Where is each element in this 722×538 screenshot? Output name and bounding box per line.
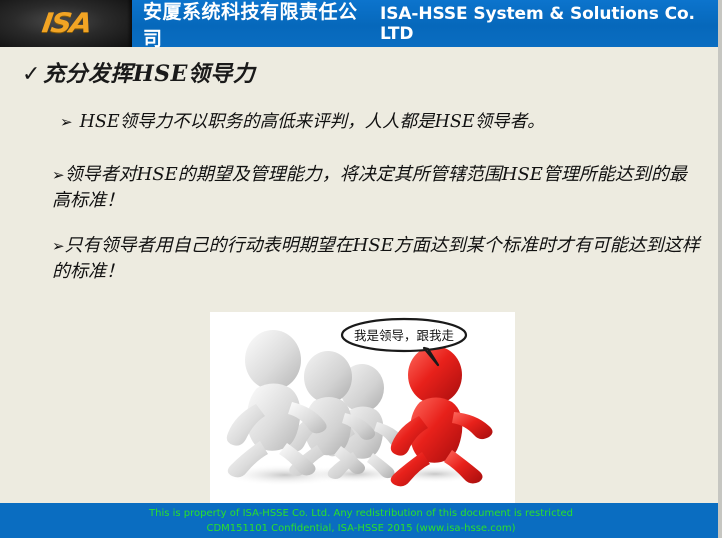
bullet-arrow-icon: ➢ (52, 237, 65, 255)
isa-logo: ISA (0, 0, 132, 47)
company-name-chinese: 安厦系统科技有限责任公司 (143, 0, 369, 51)
slide-title-text: 充分发挥HSE领导力 (43, 61, 255, 87)
bullet-arrow-icon: ➢ (60, 113, 73, 131)
bullet-item: ➢HSE领导力不以职务的高低来评判，人人都是HSE领导者。 (60, 110, 700, 135)
slide-footer: This is property of ISA-HSSE Co. Ltd. An… (0, 503, 722, 538)
bullet-arrow-icon: ➢ (52, 166, 65, 184)
presentation-slide: ISA 安厦系统科技有限责任公司 ISA-HSSE System & Solut… (0, 0, 722, 538)
slide-header-bar: ISA 安厦系统科技有限责任公司 ISA-HSSE System & Solut… (0, 0, 722, 47)
check-icon: ✓ (22, 62, 41, 87)
leadership-illustration: 我是领导，跟我走 (210, 312, 515, 510)
speech-bubble-text: 我是领导，跟我走 (354, 328, 455, 343)
footer-copyright-line-1: This is property of ISA-HSSE Co. Ltd. An… (0, 506, 722, 521)
bullet-item: ➢只有领导者用自己的行动表明期望在HSE方面达到某个标准时才有可能达到这样的标准… (52, 233, 712, 284)
bullet-item: ➢领导者对HSE的期望及管理能力，将决定其所管辖范围HSE管理所能达到的最高标准… (52, 162, 704, 213)
header-title-group: 安厦系统科技有限责任公司 ISA-HSSE System & Solutions… (143, 0, 722, 47)
page-edge (718, 0, 722, 538)
footer-copyright-line-2: CDM151101 Confidential, ISA-HSSE 2015 (w… (0, 521, 722, 536)
slide-title: ✓充分发挥HSE领导力 (22, 56, 255, 88)
bullet-text: 领导者对HSE的期望及管理能力，将决定其所管辖范围HSE管理所能达到的最高标准！ (52, 164, 687, 211)
isa-logo-text: ISA (40, 8, 92, 39)
bullet-text: 只有领导者用自己的行动表明期望在HSE方面达到某个标准时才有可能达到这样的标准！ (52, 235, 700, 282)
bullet-text: HSE领导力不以职务的高低来评判，人人都是HSE领导者。 (80, 112, 545, 132)
company-name-english: ISA-HSSE System & Solutions Co. LTD (380, 4, 722, 44)
illustration-svg: 我是领导，跟我走 (210, 312, 515, 510)
